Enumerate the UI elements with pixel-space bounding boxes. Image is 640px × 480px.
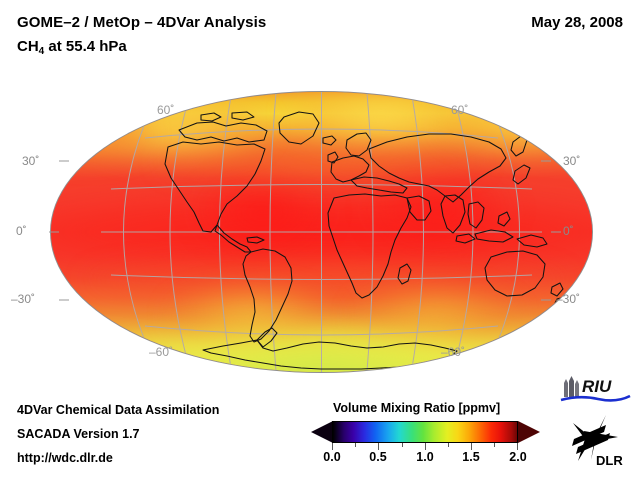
riu-towers-icon [564,376,579,397]
colorbar-tick-minor [494,443,495,447]
footer-line-2: SACADA Version 1.7 [17,427,140,441]
colorbar-label-1: 0.5 [369,450,386,464]
colorbar-label-3: 1.5 [462,450,479,464]
colorbar-under-arrow-icon [311,421,333,443]
lat-label-right-m60: –60˚ [441,345,465,359]
species-subscript: 4 [39,46,45,57]
lat-label-right-30: 30˚ [563,154,580,168]
lat-label-left-0: 0˚ [16,224,27,238]
colorbar-tick-major [517,443,518,450]
lat-label-left-60: 60˚ [157,103,174,117]
lat-label-left-30: 30˚ [22,154,39,168]
colorbar-label-4: 2.0 [509,450,526,464]
colorbar-tick-minor [448,443,449,447]
colorbar-tick-major [378,443,379,450]
mollweide-globe [51,92,592,372]
colorbar-tick-major [425,443,426,450]
colorbar-ticks [332,443,518,450]
lat-label-right-60: 60˚ [451,103,468,117]
lat-label-left-m60: –60˚ [149,345,173,359]
colorbar-label-2: 1.0 [416,450,433,464]
page-title: GOME–2 / MetOp – 4DVar Analysis [17,14,266,31]
dlr-logo: DLR [562,413,634,467]
map-panel: 60˚ 30˚ 0˚ –30˚ –60˚ 60˚ 30˚ 0˚ –30˚ –60… [51,92,592,372]
date-label: May 28, 2008 [531,14,623,31]
colorbar-tick-minor [402,443,403,447]
colorbar-tick-labels: 0.0 0.5 1.0 1.5 2.0 [311,450,539,468]
riu-logo-text: RIU [582,377,612,396]
riu-wave-icon [561,396,630,400]
colorbar-tick-major [332,443,333,450]
colorbar-tick-major [471,443,472,450]
riu-logo: RIU [558,375,632,405]
pressure-level: at 55.4 hPa [44,38,127,55]
colorbar-label-0: 0.0 [323,450,340,464]
lat-label-right-m30: –30˚ [556,292,580,306]
colorbar-over-arrow-icon [518,421,540,443]
footer-line-1: 4DVar Chemical Data Assimilation [17,403,219,417]
lat-label-left-m30: –30˚ [11,292,35,306]
species-pressure-label: CH4 at 55.4 hPa [17,38,127,55]
species-prefix: CH [17,38,39,55]
figure-root: GOME–2 / MetOp – 4DVar Analysis CH4 at 5… [0,0,640,480]
dlr-logo-text: DLR [596,453,623,467]
colorbar-tick-minor [355,443,356,447]
colorbar-title: Volume Mixing Ratio [ppmv] [333,401,500,415]
colorbar-gradient [332,421,518,443]
colorbar: 0.0 0.5 1.0 1.5 2.0 [311,421,539,449]
lat-label-right-0: 0˚ [563,224,574,238]
coastlines [51,92,592,372]
footer-line-3[interactable]: http://wdc.dlr.de [17,451,113,465]
